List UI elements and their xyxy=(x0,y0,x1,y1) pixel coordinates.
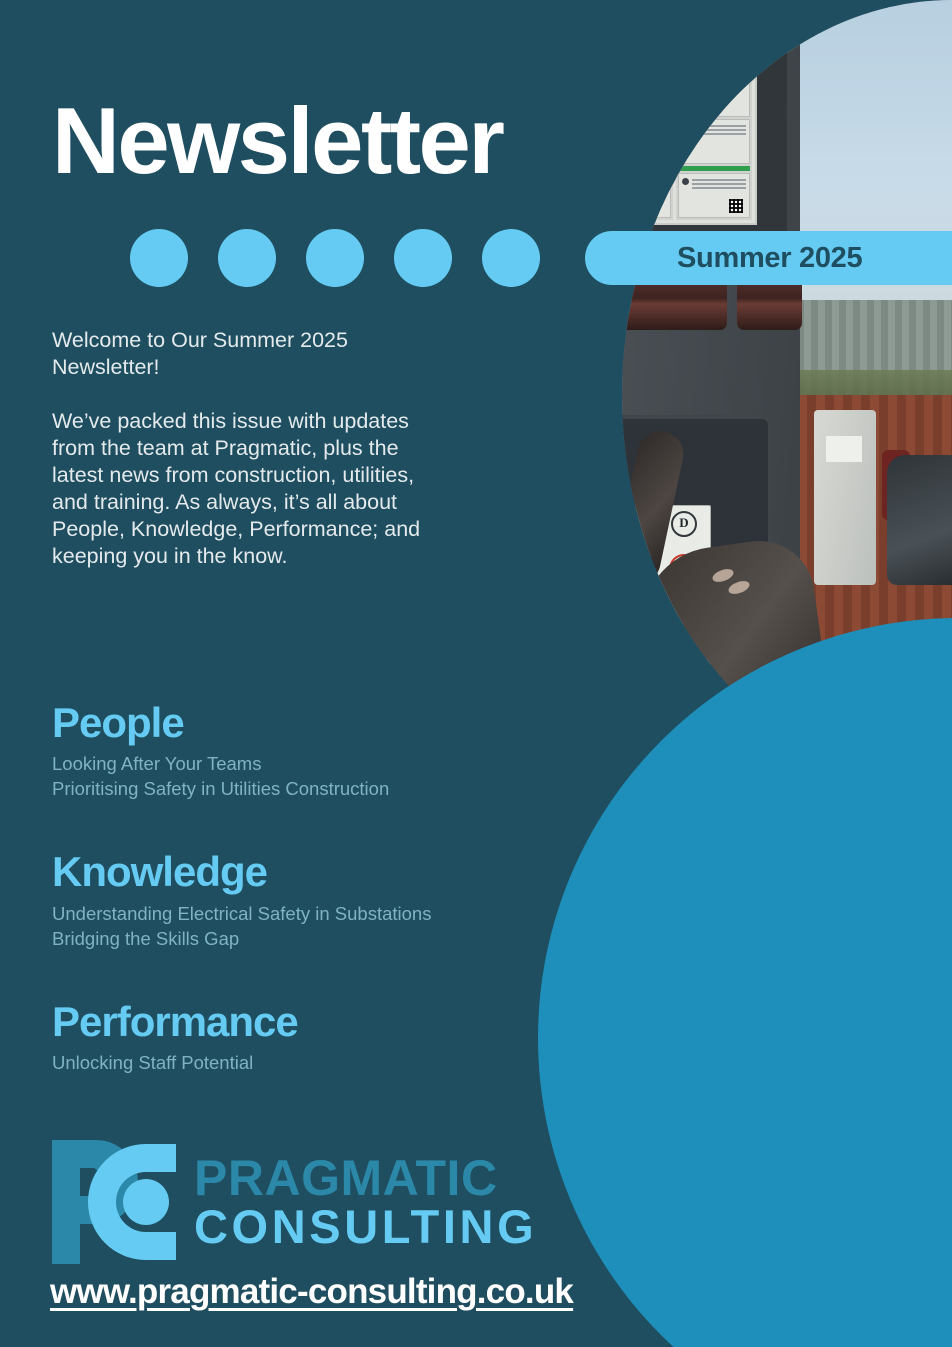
website-url[interactable]: www.pragmatic-consulting.co.uk xyxy=(50,1272,573,1312)
photo-phase-module: D 8 35 xyxy=(537,505,591,682)
photo-label-column xyxy=(676,15,752,220)
section-knowledge: Knowledge Understanding Electrical Safet… xyxy=(52,849,522,950)
section-performance: Performance Unlocking Staff Potential xyxy=(52,999,522,1075)
pc-monogram-icon xyxy=(50,1138,178,1266)
intro-paragraph-2: We’ve packed this issue with updates fro… xyxy=(52,408,452,570)
photo-label-header: ONLY BE INSTALLED AND ADJUSTED BY SUITAB… xyxy=(512,2,757,12)
section-item[interactable]: Understanding Electrical Safety in Subst… xyxy=(52,901,522,926)
photo-red-digit: 8 xyxy=(601,650,621,676)
section-heading: Knowledge xyxy=(52,849,522,894)
decorative-dot xyxy=(218,229,276,287)
photo-secondary-cabinet xyxy=(814,410,876,585)
photo-parked-car xyxy=(887,455,952,585)
section-people: People Looking After Your Teams Prioriti… xyxy=(52,700,522,801)
section-item[interactable]: Bridging the Skills Gap xyxy=(52,926,522,951)
photo-label-digit: 8 xyxy=(528,199,542,211)
section-heading: People xyxy=(52,700,522,745)
photo-red-digit: 8 xyxy=(541,650,561,676)
page-title: Newsletter xyxy=(52,94,502,188)
brand-wordmark: PRAGMATIC CONSULTING xyxy=(194,1154,537,1251)
photo-instruction-label: 8 xyxy=(512,10,757,225)
decorative-dot xyxy=(394,229,452,287)
photo-qr-code xyxy=(729,199,743,213)
brand-name-secondary: CONSULTING xyxy=(194,1203,537,1251)
contents-list: People Looking After Your Teams Prioriti… xyxy=(52,700,522,1075)
brand-name-primary: PRAGMATIC xyxy=(194,1154,537,1203)
photo-orange-panel xyxy=(494,610,679,695)
section-heading: Performance xyxy=(52,999,522,1044)
photo-green-digit: 35 xyxy=(627,650,647,676)
brand-logo: PRAGMATIC CONSULTING xyxy=(50,1138,537,1266)
section-item[interactable]: Looking After Your Teams xyxy=(52,751,522,776)
photo-phase-letter: D xyxy=(611,511,637,537)
photo-phase-letter: D xyxy=(551,511,577,537)
photo-green-digit: 35 xyxy=(567,650,587,676)
photo-indicator-led xyxy=(564,440,571,466)
photo-label-column xyxy=(596,15,672,220)
section-item[interactable]: Unlocking Staff Potential xyxy=(52,1050,522,1075)
intro-text: Welcome to Our Summer 2025 Newsletter! W… xyxy=(52,327,452,570)
section-item[interactable]: Prioritising Safety in Utilities Constru… xyxy=(52,776,522,801)
newsletter-cover-page: ONLY BE INSTALLED AND ADJUSTED BY SUITAB… xyxy=(0,0,952,1347)
issue-badge: Summer 2025 xyxy=(585,231,952,285)
decorative-dot xyxy=(306,229,364,287)
intro-paragraph-1: Welcome to Our Summer 2025 Newsletter! xyxy=(52,327,452,381)
decorative-dot xyxy=(130,229,188,287)
accent-circle xyxy=(538,618,952,1347)
photo-label-column: 8 xyxy=(517,15,593,220)
photo-knob xyxy=(540,465,568,493)
decorative-dot xyxy=(482,229,540,287)
decorative-dot-row xyxy=(130,229,540,287)
